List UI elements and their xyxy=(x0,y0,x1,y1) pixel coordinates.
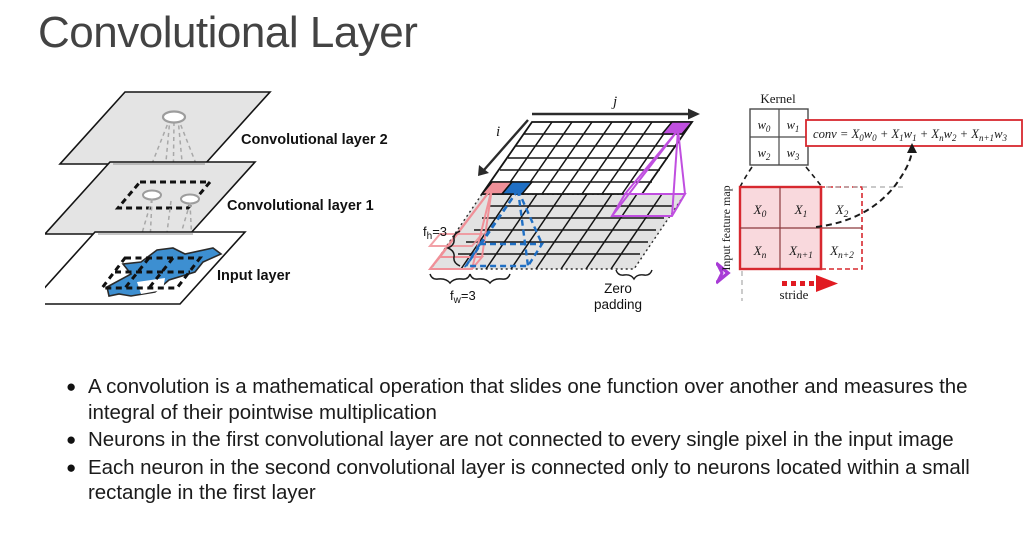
kernel-convolution-figure: Kernel w0 w1 w2 w3 conv = X0w0 + X1w1 + … xyxy=(716,87,1024,315)
kernel-to-map-connectors xyxy=(740,167,822,187)
kernel-grid: w0 w1 w2 w3 xyxy=(750,109,808,165)
label-zero-padding-line2: padding xyxy=(594,297,642,312)
neuron-marker-layer2 xyxy=(163,112,185,123)
list-item: ● Each neuron in the second convolutiona… xyxy=(62,455,1002,506)
label-filter-width: fw=3 xyxy=(450,288,476,306)
filter-width-brace xyxy=(430,274,510,283)
bullet-marker-icon: ● xyxy=(62,427,88,452)
list-item: ● A convolution is a mathematical operat… xyxy=(62,374,1002,425)
label-conv-layer-2: Convolutional layer 2 xyxy=(241,132,388,148)
bullet-text: Each neuron in the second convolutional … xyxy=(88,455,1002,506)
conv-equation-box: conv = X0w0 + X1w1 + Xnw2 + Xn+1w3 xyxy=(806,120,1022,146)
axis-label-j: j xyxy=(611,94,617,110)
conv-equation-text: conv = X0w0 + X1w1 + Xnw2 + Xn+1w3 xyxy=(813,127,1007,143)
bullet-text: A convolution is a mathematical operatio… xyxy=(88,374,1002,425)
axis-j-arrow xyxy=(532,109,700,120)
plane-conv-layer-2 xyxy=(60,92,270,164)
figures-row: Convolutional layer 2 Convolutional laye… xyxy=(0,82,1024,332)
stride-label: stride xyxy=(780,287,809,302)
label-zero-padding-line1: Zero xyxy=(604,281,632,296)
kernel-title: Kernel xyxy=(760,91,796,106)
bullet-marker-icon: ● xyxy=(62,374,88,399)
axis-label-i: i xyxy=(496,124,500,140)
list-item: ● Neurons in the first convolutional lay… xyxy=(62,427,1002,453)
label-conv-layer-1: Convolutional layer 1 xyxy=(227,198,374,214)
page-title: Convolutional Layer xyxy=(38,8,417,58)
bullet-text: Neurons in the first convolutional layer… xyxy=(88,427,1002,453)
slide-root: Convolutional Layer xyxy=(0,0,1024,550)
upper-plane-grid xyxy=(482,122,692,194)
bullet-list: ● A convolution is a mathematical operat… xyxy=(62,374,1002,508)
label-input-layer: Input layer xyxy=(217,268,291,284)
bullet-marker-icon: ● xyxy=(62,455,88,480)
stacked-layers-figure: Convolutional layer 2 Convolutional laye… xyxy=(45,82,405,322)
input-feature-map-grid: X0 X1 X2 Xn Xn+1 Xn+2 xyxy=(740,187,862,269)
zero-padding-brace xyxy=(616,270,652,279)
receptive-field-figure: j i xyxy=(420,84,715,316)
input-feature-map-label: Input feature map xyxy=(719,185,733,270)
